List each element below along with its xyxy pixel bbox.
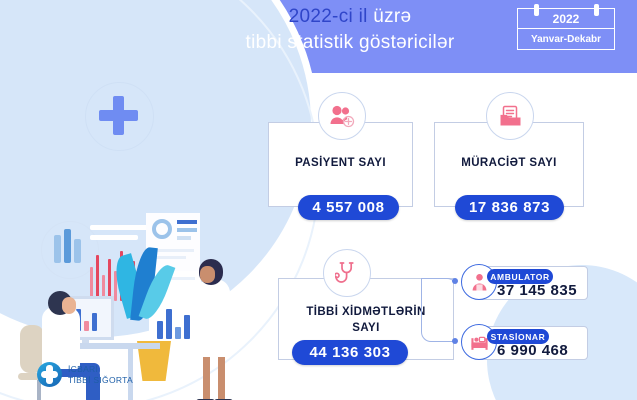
calendar-year-row: 2022 <box>518 9 614 29</box>
connector-dot-stasionar <box>452 338 458 344</box>
donut-chart-icon <box>152 219 172 239</box>
card-muraciet-value: 17 836 873 <box>455 195 564 220</box>
page-title: 2022-ci il üzrə tibbi statistik göstəric… <box>200 4 500 56</box>
connector-to-stasionar <box>421 284 456 342</box>
legend-line <box>177 236 191 240</box>
test-tube <box>54 235 61 263</box>
logo-line-2: TİBBİ SIĞORTA <box>68 375 133 386</box>
illustration <box>0 63 305 400</box>
logo: İCBARİ TİBBİ SIĞORTA <box>37 362 133 387</box>
doctor-standing-leg <box>203 353 210 400</box>
calendar-ring-icon <box>594 4 599 16</box>
legend-line <box>177 220 197 224</box>
sub-card-stasionar-value: 6 990 468 <box>497 342 568 359</box>
title-line-1: 2022-ci il üzrə <box>200 4 500 30</box>
logo-text: İCBARİ TİBBİ SIĞORTA <box>68 364 133 386</box>
connector-to-ambulator <box>421 278 456 287</box>
text-line <box>152 249 194 252</box>
doctor-standing-face <box>200 266 215 283</box>
connector-dot-ambulator <box>452 278 458 284</box>
test-tube <box>74 239 81 263</box>
calendar-period: Yanvar-Dekabr <box>531 34 601 45</box>
doctor-seated-coat <box>42 307 80 369</box>
doctor-standing-leg <box>218 353 225 400</box>
calendar-year: 2022 <box>553 12 580 26</box>
patients-add-icon <box>318 92 366 140</box>
title-suffix: üzrə <box>373 6 411 27</box>
documents-folder-icon <box>486 92 534 140</box>
card-tibbi-xidmet-value: 44 136 303 <box>292 340 408 365</box>
sub-card-ambulator-value: 37 145 835 <box>497 282 577 299</box>
text-line <box>152 256 186 259</box>
stethoscope-icon <box>323 249 371 297</box>
card-pasiyent-value: 4 557 008 <box>298 195 399 220</box>
calendar-ring-icon <box>534 4 539 16</box>
legend-line <box>177 228 197 232</box>
test-tube <box>64 229 71 263</box>
title-line-2: tibbi statistik göstəricilər <box>200 30 500 56</box>
logo-line-1: İCBARİ <box>68 364 133 375</box>
calendar-badge: 2022 Yanvar-Dekabr <box>517 8 615 50</box>
doctor-standing-coat <box>196 279 230 357</box>
doctor-seated-face <box>62 297 76 314</box>
blue-bar-chart <box>157 303 197 339</box>
wall-chart-line <box>90 235 138 240</box>
title-year: 2022-ci il <box>289 6 374 27</box>
card-pasiyent-label: PASİYENT SAYI <box>268 156 413 171</box>
card-muraciet-label: MÜRACİƏT SAYI <box>434 156 584 171</box>
calendar-period-row: Yanvar-Dekabr <box>518 29 614 49</box>
infographic-root: 2022-ci il üzrə tibbi statistik göstəric… <box>0 0 637 400</box>
logo-mark-icon <box>37 362 62 387</box>
